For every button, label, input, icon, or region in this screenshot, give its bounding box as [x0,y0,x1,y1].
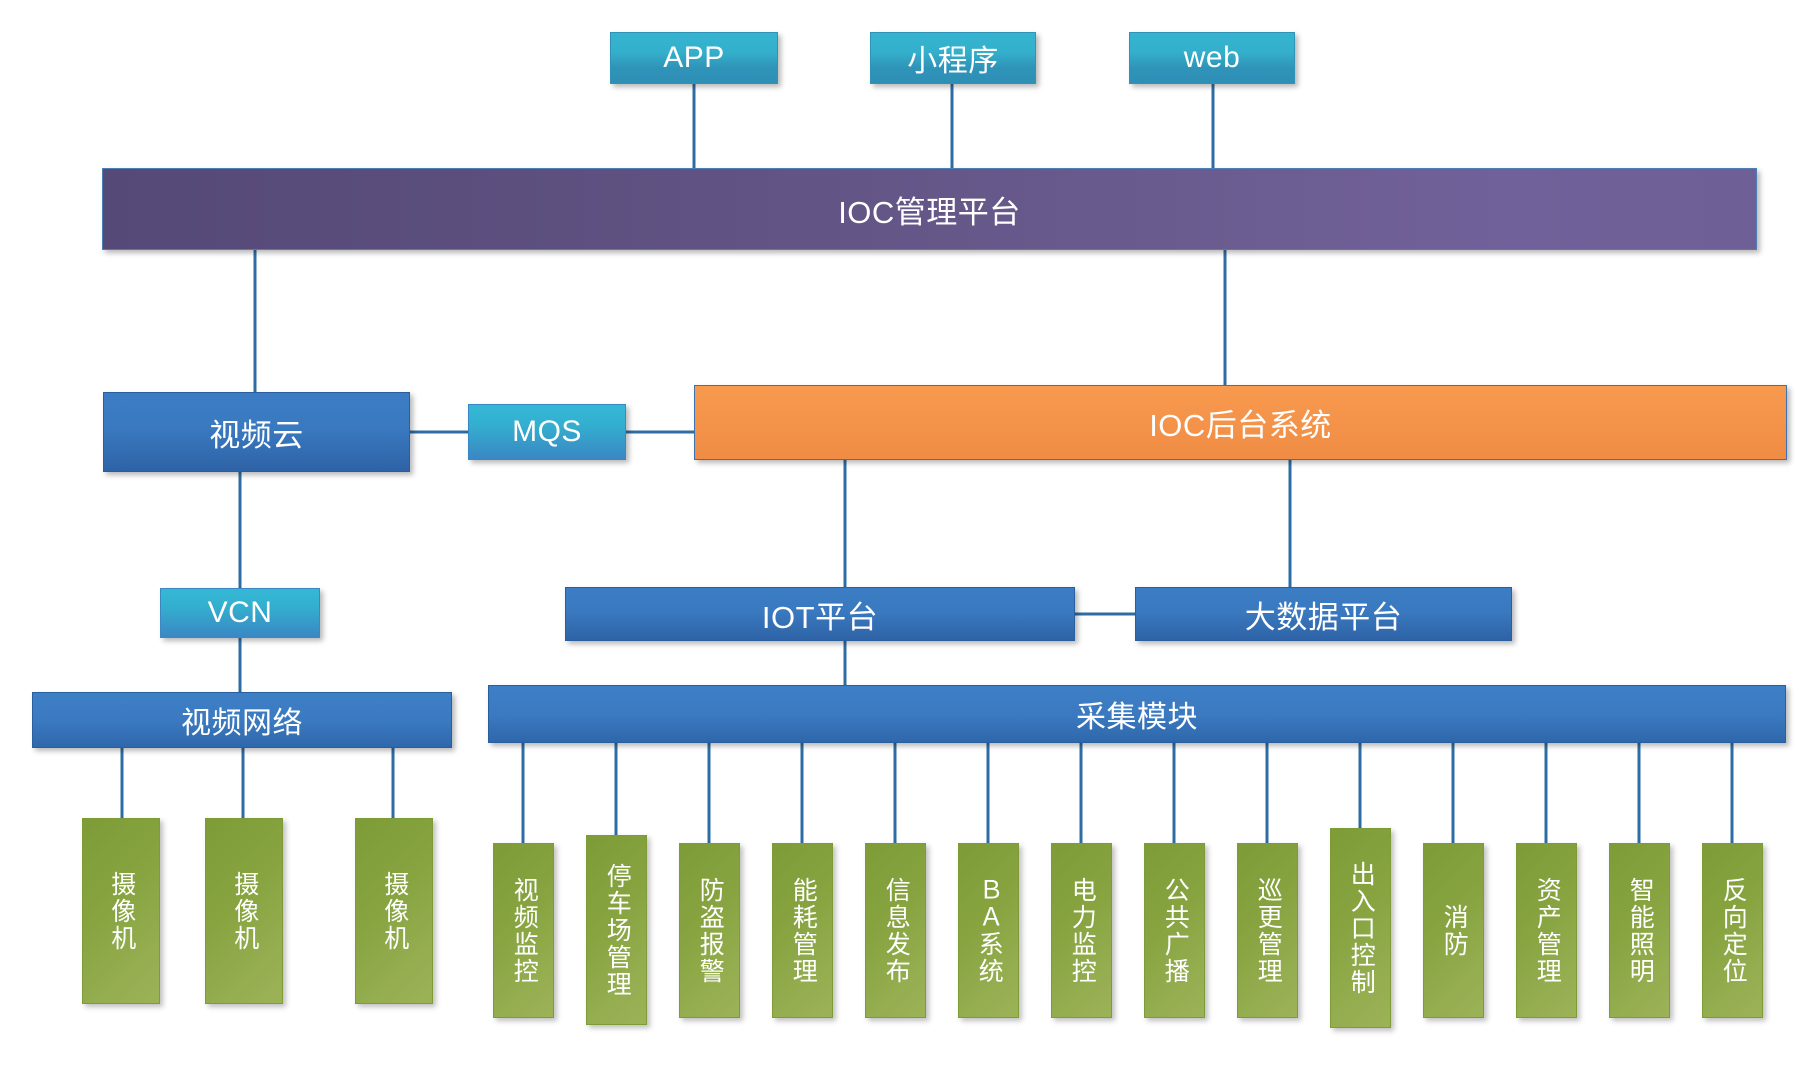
subsystem-label-fire-protection: 消防 [1439,904,1469,958]
bigdata-platform-label: 大数据平台 [1245,592,1403,637]
camera-label-1: 摄像机 [106,871,136,952]
subsystem-label-video-surveillance: 视频监控 [509,877,539,985]
ioc-management-platform-label: IOC管理平台 [838,187,1021,232]
subsystem-box-ba-system[interactable]: ＢＡ系统 [958,843,1019,1018]
subsystem-box-smart-lighting[interactable]: 智能照明 [1609,843,1670,1018]
iot-platform-label: IOT平台 [762,592,878,637]
client-web-box[interactable]: web [1129,32,1295,84]
collect-module-label: 采集模块 [1076,692,1198,736]
architecture-diagram: APP 小程序 web IOC管理平台 视频云 MQS IOC后台系统 VCN … [0,0,1805,1084]
ioc-backend-system-box[interactable]: IOC后台系统 [694,385,1787,460]
mqs-label: MQS [512,415,582,449]
client-app-box[interactable]: APP [610,32,778,84]
video-cloud-label: 视频云 [209,410,304,455]
vcn-label: VCN [208,596,273,630]
subsystem-label-information-release: 信息发布 [881,877,911,985]
vcn-box[interactable]: VCN [160,588,320,638]
ioc-backend-system-label: IOC后台系统 [1149,400,1332,445]
client-app-label: APP [663,41,725,75]
subsystem-box-information-release[interactable]: 信息发布 [865,843,926,1018]
subsystem-label-asset-management: 资产管理 [1532,877,1562,985]
iot-platform-box[interactable]: IOT平台 [565,587,1075,641]
subsystem-box-fire-protection[interactable]: 消防 [1423,843,1484,1018]
camera-box-1[interactable]: 摄像机 [82,818,160,1004]
subsystem-box-access-control[interactable]: 出入口控制 [1330,828,1391,1028]
subsystem-label-public-broadcast: 公共广播 [1160,877,1190,985]
ioc-management-platform-bar[interactable]: IOC管理平台 [102,168,1757,250]
subsystem-box-burglar-alarm[interactable]: 防盗报警 [679,843,740,1018]
camera-box-3[interactable]: 摄像机 [355,818,433,1004]
client-web-label: web [1184,41,1241,75]
subsystem-label-burglar-alarm: 防盗报警 [695,877,725,985]
client-miniprogram-label: 小程序 [907,36,999,80]
video-cloud-box[interactable]: 视频云 [103,392,410,472]
video-network-box[interactable]: 视频网络 [32,692,452,748]
camera-label-2: 摄像机 [229,871,259,952]
subsystem-label-parking-management: 停车场管理 [602,863,632,998]
subsystem-label-reverse-positioning: 反向定位 [1718,877,1748,985]
video-network-label: 视频网络 [181,698,303,742]
subsystem-box-parking-management[interactable]: 停车场管理 [586,835,647,1025]
subsystem-box-reverse-positioning[interactable]: 反向定位 [1702,843,1763,1018]
client-miniprogram-box[interactable]: 小程序 [870,32,1036,84]
subsystem-box-energy-management[interactable]: 能耗管理 [772,843,833,1018]
subsystem-box-asset-management[interactable]: 资产管理 [1516,843,1577,1018]
subsystem-box-power-monitoring[interactable]: 电力监控 [1051,843,1112,1018]
subsystem-box-patrol-management[interactable]: 巡更管理 [1237,843,1298,1018]
mqs-box[interactable]: MQS [468,404,626,460]
camera-box-2[interactable]: 摄像机 [205,818,283,1004]
subsystem-label-energy-management: 能耗管理 [788,877,818,985]
subsystem-label-power-monitoring: 电力监控 [1067,877,1097,985]
camera-label-3: 摄像机 [379,871,409,952]
subsystem-label-smart-lighting: 智能照明 [1625,877,1655,985]
subsystem-box-video-surveillance[interactable]: 视频监控 [493,843,554,1018]
subsystem-label-patrol-management: 巡更管理 [1253,877,1283,985]
subsystem-label-ba-system: ＢＡ系统 [974,877,1004,985]
subsystem-label-access-control: 出入口控制 [1346,861,1376,996]
bigdata-platform-box[interactable]: 大数据平台 [1135,587,1512,641]
collect-module-box[interactable]: 采集模块 [488,685,1786,743]
subsystem-box-public-broadcast[interactable]: 公共广播 [1144,843,1205,1018]
